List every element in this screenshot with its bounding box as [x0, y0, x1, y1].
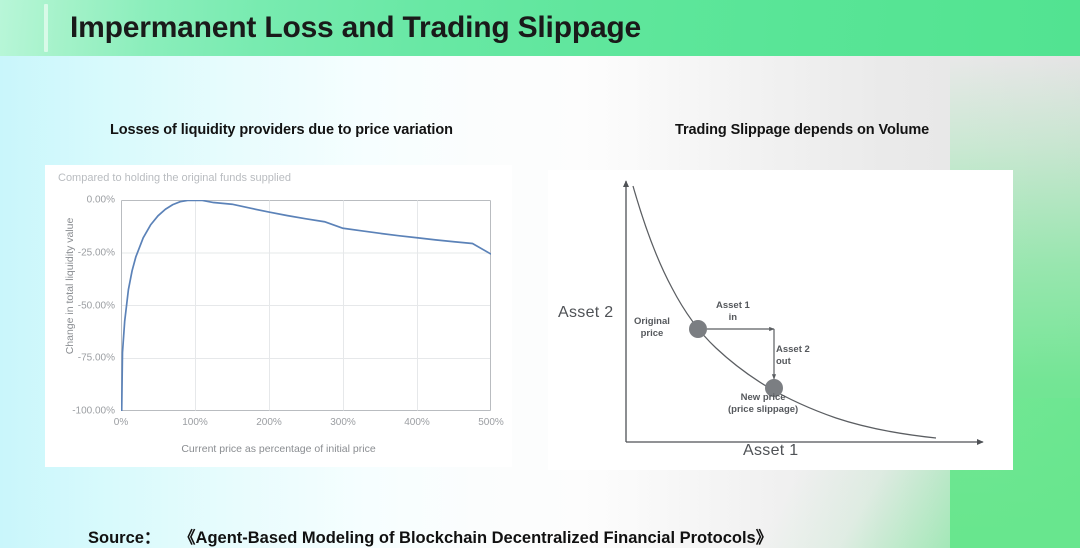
x-axis-tick: 100% [182, 417, 208, 428]
y-axis-tick: -50.00% [53, 300, 115, 311]
source-label: Source： [88, 529, 160, 547]
slide-header: Impermanent Loss and Trading Slippage [0, 0, 1080, 56]
original-price-note: Original price [634, 316, 670, 339]
source-row: Source： 《Agent-Based Modeling of Blockch… [88, 524, 772, 548]
header-accent-bar [44, 4, 48, 52]
original-price-dot [689, 320, 707, 338]
y-axis-tick: 0.00% [53, 195, 115, 206]
y-axis-tick: -75.00% [53, 353, 115, 364]
asset2-out-note: Asset 2 out [776, 344, 810, 367]
x-axis-tick: 0% [114, 417, 128, 428]
y-axis-tick-labels: 0.00%-25.00%-50.00%-75.00%-100.00% [53, 165, 115, 467]
x-axis-label: Current price as percentage of initial p… [45, 443, 512, 455]
impermanent-loss-chart-card: Compared to holding the original funds s… [45, 165, 512, 467]
left-chart-title: Losses of liquidity providers due to pri… [110, 122, 453, 138]
asset1-in-note: Asset 1 in [716, 300, 750, 323]
x-axis-tick: 400% [404, 417, 430, 428]
slide-canvas: Impermanent Loss and Trading Slippage Lo… [0, 0, 1080, 548]
chart-plot-area [121, 200, 491, 411]
new-price-note: New price (price slippage) [728, 392, 798, 415]
x-axis-tick: 500% [478, 417, 504, 428]
y-axis-tick: -25.00% [53, 247, 115, 258]
x-axis-tick: 300% [330, 417, 356, 428]
chart-gridlines [122, 201, 491, 411]
x-axis-tick: 200% [256, 417, 282, 428]
source-citation: 《Agent-Based Modeling of Blockchain Dece… [179, 529, 772, 547]
slippage-diagram-card: Asset 2 Asset 1 [548, 170, 1013, 470]
impermanent-loss-svg [121, 200, 491, 411]
slippage-diagram-svg [548, 170, 1013, 470]
diagram-axes [626, 181, 983, 442]
page-title: Impermanent Loss and Trading Slippage [70, 2, 641, 54]
y-axis-tick: -100.00% [53, 406, 115, 417]
right-chart-title: Trading Slippage depends on Volume [675, 122, 929, 138]
